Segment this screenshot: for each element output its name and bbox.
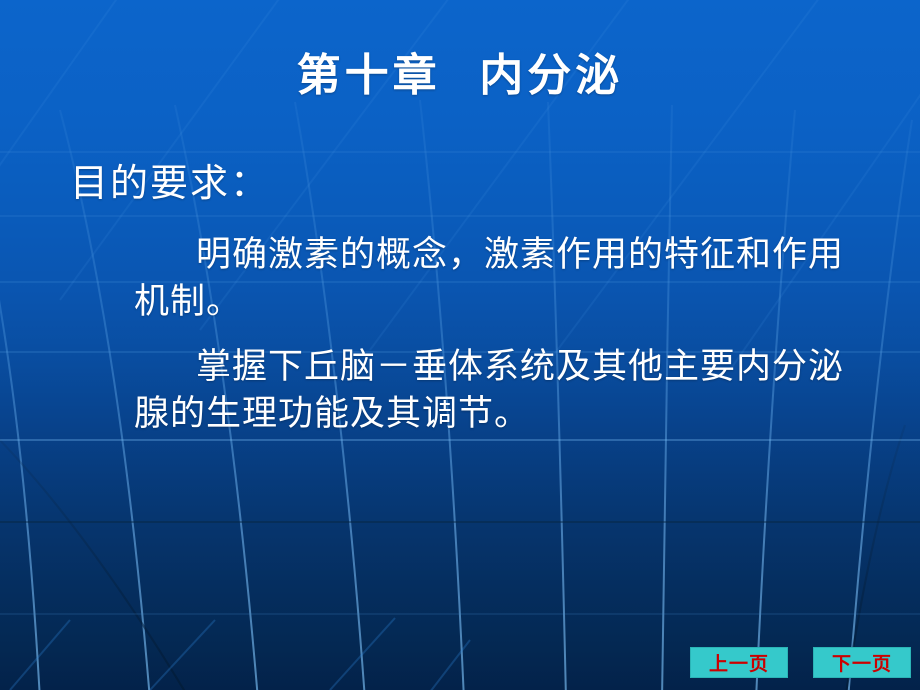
- objective-paragraph-2: 掌握下丘脑－垂体系统及其他主要内分泌腺的生理功能及其调节。: [68, 344, 874, 438]
- objective-paragraph-1: 明确激素的概念，激素作用的特征和作用机制。: [68, 232, 874, 326]
- slide-body: 目的要求： 明确激素的概念，激素作用的特征和作用机制。 掌握下丘脑－垂体系统及其…: [68, 158, 868, 456]
- slide-title: 第十章 内分泌: [0, 48, 920, 104]
- previous-page-button[interactable]: 上一页: [690, 647, 788, 678]
- slide-navigation: 上一页 下一页: [690, 647, 914, 679]
- presentation-slide: 第十章 内分泌 目的要求： 明确激素的概念，激素作用的特征和作用机制。 掌握下丘…: [0, 0, 920, 690]
- objectives-heading: 目的要求：: [70, 158, 868, 208]
- next-page-button[interactable]: 下一页: [813, 647, 911, 678]
